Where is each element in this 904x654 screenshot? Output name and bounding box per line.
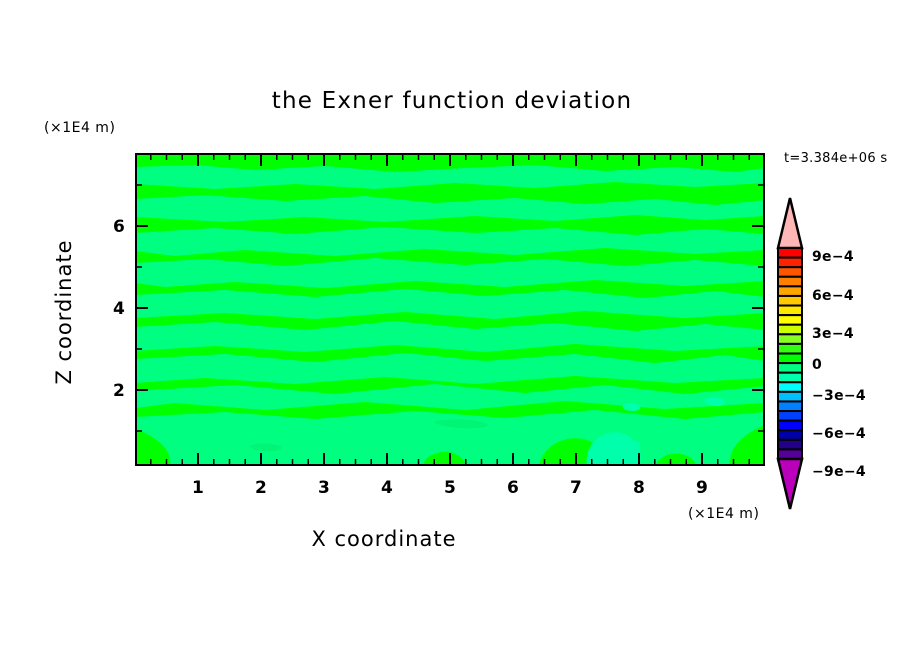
colorbar-band: [778, 296, 802, 306]
colorbar-band: [778, 373, 802, 383]
colorbar-band: [778, 286, 802, 296]
colorbar-band: [778, 334, 802, 344]
contour-plot-panel: [135, 153, 765, 466]
x-tick-label: 5: [444, 478, 456, 498]
y-axis-title: Z coordinate: [52, 222, 76, 402]
colorbar[interactable]: [776, 196, 810, 511]
colorbar-band: [778, 411, 802, 421]
colorbar-tick-label: 0: [812, 357, 822, 373]
colorbar-cap-top: [778, 198, 802, 248]
colorbar-band: [778, 392, 802, 402]
x-tick-label: 7: [570, 478, 582, 498]
colorbar-band: [778, 344, 802, 354]
colorbar-band: [778, 354, 802, 364]
colorbar-tick-label: 6e−4: [812, 288, 854, 304]
colorbar-band: [778, 325, 802, 335]
colorbar-band: [778, 306, 802, 316]
colorbar-tick-label: 3e−4: [812, 326, 854, 342]
colorbar-band: [778, 315, 802, 325]
colorbar-band: [778, 363, 802, 373]
colorbar-band: [778, 258, 802, 268]
time-stamp-label: t=3.384e+06 s: [784, 151, 887, 166]
chart-title: the Exner function deviation: [0, 88, 904, 114]
colorbar-band: [778, 421, 802, 431]
colorbar-band: [778, 449, 802, 459]
x-tick-label: 8: [633, 478, 645, 498]
colorbar-tick-label: −9e−4: [812, 464, 866, 480]
y-tick-label: 6: [113, 217, 125, 237]
x-tick-label: 6: [507, 478, 519, 498]
y-tick-label: 2: [113, 381, 125, 401]
colorbar-band: [778, 440, 802, 450]
colorbar-band: [778, 277, 802, 287]
y-axis-unit-label: (×1E4 m): [44, 120, 115, 136]
colorbar-band: [778, 267, 802, 277]
colorbar-tick-label: −6e−4: [812, 426, 866, 442]
colorbar-bands: [778, 248, 802, 459]
x-axis-unit-label: (×1E4 m): [688, 506, 759, 522]
colorbar-band: [778, 401, 802, 411]
contour-field: [135, 153, 765, 466]
colorbar-tick-label: 9e−4: [812, 249, 854, 265]
x-tick-label: 9: [696, 478, 708, 498]
y-tick-label: 4: [113, 299, 125, 319]
x-tick-label: 2: [255, 478, 267, 498]
colorbar-cap-bottom: [778, 459, 802, 509]
x-tick-label: 3: [318, 478, 330, 498]
colorbar-tick-label: −3e−4: [812, 388, 866, 404]
colorbar-band: [778, 248, 802, 258]
colorbar-band: [778, 430, 802, 440]
x-tick-label: 1: [192, 478, 204, 498]
x-tick-label: 4: [381, 478, 393, 498]
colorbar-band: [778, 382, 802, 392]
x-axis-title: X coordinate: [0, 527, 768, 551]
